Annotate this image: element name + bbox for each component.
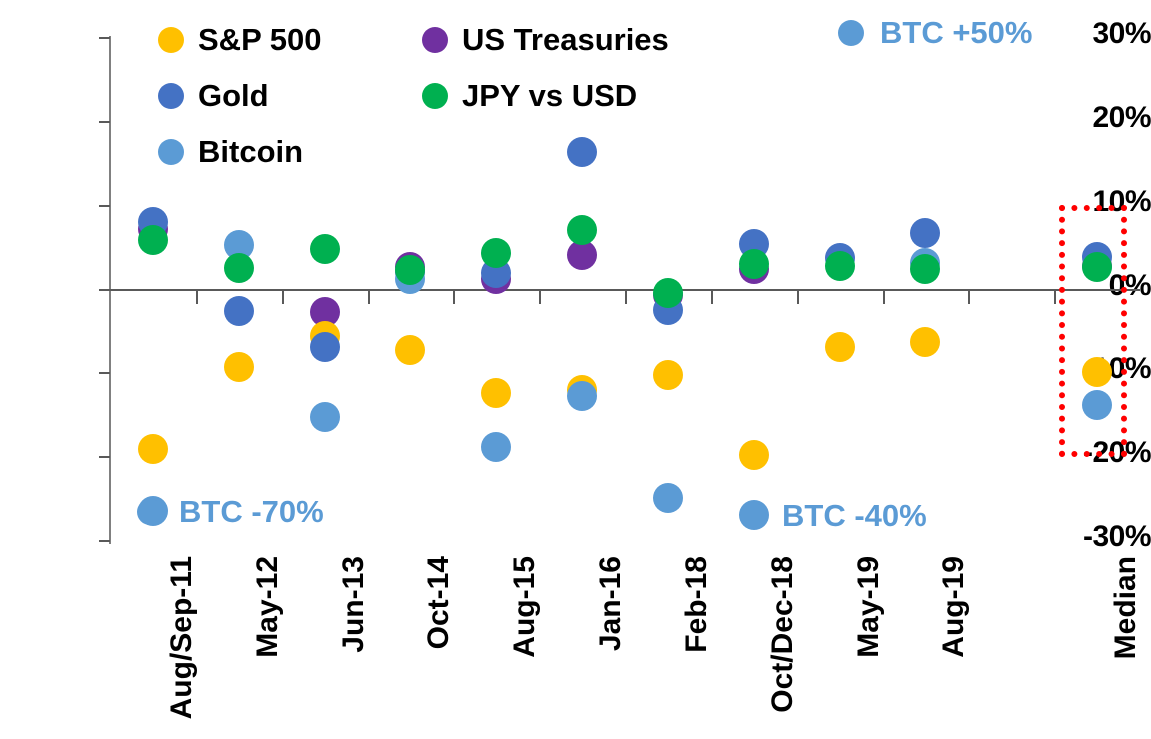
annotation-label-btc-plus-50: BTC +50% <box>880 17 1032 48</box>
data-point <box>825 251 855 281</box>
annotation-btc-minus-70: BTC -70% <box>137 496 324 527</box>
x-tick <box>453 291 455 304</box>
y-tick-label: -30% <box>1063 520 1151 554</box>
y-tick <box>99 456 110 458</box>
legend-label-jpy-vs-usd: JPY vs USD <box>462 80 637 111</box>
data-point <box>310 402 340 432</box>
x-tick <box>968 291 970 304</box>
x-axis-label: Jun-13 <box>337 556 371 653</box>
data-point <box>481 238 511 268</box>
x-tick <box>797 291 799 304</box>
data-point <box>1082 357 1112 387</box>
legend-item-jpy-vs-usd[interactable]: JPY vs USD <box>422 80 637 111</box>
x-tick <box>1054 291 1056 304</box>
data-point <box>910 327 940 357</box>
y-tick <box>99 37 110 39</box>
data-point <box>224 296 254 326</box>
annotation-label-btc-minus-70: BTC -70% <box>179 496 324 527</box>
y-tick-label: 30% <box>1063 17 1151 51</box>
legend-label-sp500: S&P 500 <box>198 24 322 55</box>
data-point <box>395 335 425 365</box>
x-axis-label: Jan-16 <box>594 556 628 651</box>
x-tick <box>282 291 284 304</box>
x-axis-label: Oct-14 <box>422 556 456 649</box>
legend-marker-jpy-vs-usd <box>422 83 448 109</box>
x-axis-label: May-19 <box>852 556 886 658</box>
x-tick <box>711 291 713 304</box>
x-axis-label: Aug/Sep-11 <box>165 556 199 719</box>
data-point <box>138 225 168 255</box>
annotation-marker-bitcoin-icon <box>137 499 163 525</box>
x-axis-label: Median <box>1109 556 1143 659</box>
legend-item-bitcoin[interactable]: Bitcoin <box>158 136 303 167</box>
data-point <box>739 249 769 279</box>
data-point <box>481 378 511 408</box>
legend-marker-sp500 <box>158 27 184 53</box>
legend-marker-bitcoin <box>158 139 184 165</box>
data-point <box>910 254 940 284</box>
scatter-chart: 30%20%10%0%-10%-20%-30% Aug/Sep-11May-12… <box>0 0 1151 739</box>
y-tick <box>99 121 110 123</box>
data-point <box>653 278 683 308</box>
data-point <box>653 483 683 513</box>
x-tick <box>368 291 370 304</box>
legend-marker-us-treasuries <box>422 27 448 53</box>
y-tick <box>99 205 110 207</box>
data-point <box>567 381 597 411</box>
data-point <box>567 215 597 245</box>
annotation-marker-bitcoin-icon <box>838 20 864 46</box>
x-tick <box>625 291 627 304</box>
data-point <box>910 218 940 248</box>
x-axis-label: May-12 <box>251 556 285 658</box>
annotation-label-btc-minus-40: BTC -40% <box>782 500 927 531</box>
legend-label-us-treasuries: US Treasuries <box>462 24 669 55</box>
data-point <box>481 432 511 462</box>
x-axis-label: Feb-18 <box>680 556 714 653</box>
data-point <box>224 253 254 283</box>
data-point <box>739 440 769 470</box>
data-point <box>138 434 168 464</box>
x-axis-label: Aug-15 <box>508 556 542 658</box>
data-point <box>1082 252 1112 282</box>
data-point <box>825 332 855 362</box>
legend-label-bitcoin: Bitcoin <box>198 136 303 167</box>
legend-label-gold: Gold <box>198 80 269 111</box>
legend-marker-gold <box>158 83 184 109</box>
data-point <box>224 352 254 382</box>
annotation-marker-bitcoin-icon <box>740 503 766 529</box>
legend-item-us-treasuries[interactable]: US Treasuries <box>422 24 669 55</box>
data-point <box>310 234 340 264</box>
legend-item-sp500[interactable]: S&P 500 <box>158 24 322 55</box>
x-tick <box>539 291 541 304</box>
x-axis-label: Aug-19 <box>937 556 971 658</box>
annotation-btc-plus-50: BTC +50% <box>838 17 1032 48</box>
data-point <box>567 137 597 167</box>
annotation-btc-minus-40: BTC -40% <box>740 500 927 531</box>
x-tick <box>883 291 885 304</box>
y-tick <box>99 372 110 374</box>
y-tick-label: 20% <box>1063 101 1151 135</box>
x-axis-label: Oct/Dec-18 <box>766 556 800 713</box>
legend-item-gold[interactable]: Gold <box>158 80 269 111</box>
y-tick <box>99 540 110 542</box>
x-tick <box>196 291 198 304</box>
data-point <box>653 360 683 390</box>
data-point <box>310 332 340 362</box>
